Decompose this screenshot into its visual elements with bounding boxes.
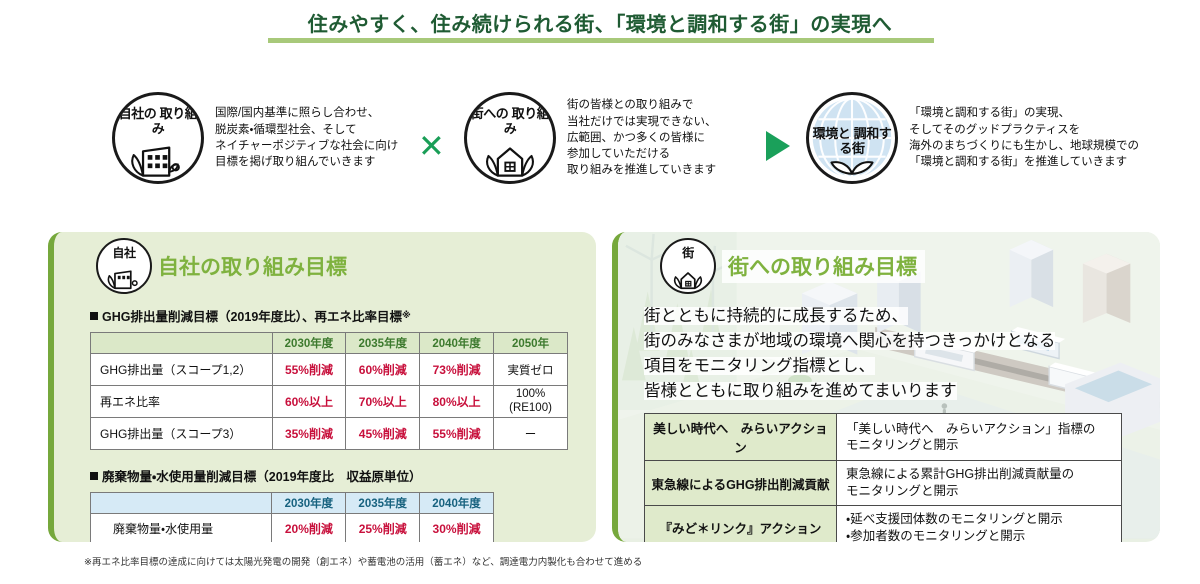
operator-arrow-icon (766, 131, 790, 161)
bullet-square-icon (90, 472, 98, 480)
badge-own-company: 自社 (96, 238, 152, 294)
table-row: 東急線によるGHG排出削減貢献 東急線による累計GHG排出削減貢献量の モニタリ… (645, 461, 1122, 506)
left-section2-label: 廃棄物量・水使用量削減目標（2019年度比 収益原単位） (90, 466, 596, 485)
table-cell: 25%削減 (346, 514, 420, 543)
badge-label: 街 (682, 247, 694, 260)
badge-town: 街 (660, 238, 716, 294)
table-row: 廃棄物量・水使用量 20%削減 25%削減 30%削減 (91, 514, 494, 543)
right-panel-body-text: 街とともに持続的に成長するため、 街のみなさまが地域の環境へ関心を持つきっかけと… (644, 304, 1160, 404)
houses-icon (662, 264, 714, 291)
table-row: GHG排出量（スコープ1,2） 55%削減 60%削減 73%削減 実質ゼロ (91, 354, 568, 386)
table-cell: 55%削減 (272, 354, 346, 386)
table-header-cell (91, 493, 272, 514)
table-row: GHG排出量（スコープ3） 35%削減 45%削減 55%削減 ー (91, 418, 568, 450)
footnote: ※再エネ比率目標の達成に向けては太陽光発電の開発（創エネ）や蓄電池の活用（蓄エネ… (84, 554, 642, 568)
flow-step-town-initiatives: 街への 取り組み 街の皆様との取り組みで 当社だけでは実現できない、 広範囲、か… (464, 92, 717, 184)
operator-multiply-icon: ✕ (418, 130, 445, 162)
table-cell: 100% (RE100) (494, 386, 568, 418)
left-section1-label-text: GHG排出量削減目標（2019年度比）、再エネ比率目標 (102, 310, 402, 324)
table-header-cell: 2030年度 (272, 333, 346, 354)
table-header-cell (91, 333, 273, 354)
flow-step-own-initiatives: 自社の 取り組み 国際/国内基準に照らし合わせ、 脱炭素・循環型社会、そして ネ… (112, 92, 398, 184)
page-title: 住みやすく、住み続けられる街、「環境と調和する街」の実現へ (0, 8, 1200, 37)
body-line: 街のみなさまが地域の環境へ関心を持つきっかけとなる (644, 329, 1160, 354)
table-cell: 70%以上 (346, 386, 420, 418)
badge-label: 環境と 調和する街 (809, 127, 895, 156)
table-cell: 60%削減 (346, 354, 420, 386)
row-detail: 東急線による累計GHG排出削減貢献量の モニタリングと開示 (837, 461, 1122, 506)
row-detail: 「美しい時代へ みらいアクション」指標の モニタリングと開示 (837, 414, 1122, 461)
panel-town-initiative-targets: 街 街への取り組み目標 街とともに持続的に成長するため、 街のみなさまが地域の環… (612, 232, 1160, 542)
table-header-cell: 2035年度 (346, 333, 420, 354)
row-label: 美しい時代へ みらいアクション (645, 414, 837, 461)
body-line-text: 項目をモニタリング指標とし、 (644, 357, 875, 375)
left-section1-label-mark: ※ (402, 310, 411, 320)
badge-town-initiatives: 街への 取り組み (464, 92, 556, 184)
table-cell: ー (494, 418, 568, 450)
infographic-page: 住みやすく、住み続けられる街、「環境と調和する街」の実現へ 自社の 取り組み 国… (0, 0, 1200, 584)
table-row: 再エネ比率 60%以上 70%以上 80%以上 100% (RE100) (91, 386, 568, 418)
right-panel-header: 街 街への取り組み目標 (660, 238, 1160, 294)
table-header-cell: 2035年度 (346, 493, 420, 514)
body-line-text: 街とともに持続的に成長するため、 (644, 307, 908, 325)
table-row: 『みど＊リンク』アクション ・延べ支援団体数のモニタリングと開示 ・参加者数のモ… (645, 505, 1122, 542)
table-cell: 55%削減 (420, 418, 494, 450)
building-icon (98, 264, 150, 291)
building-icon (115, 133, 201, 179)
badge-harmony-town: 環境と 調和する街 (806, 92, 898, 184)
row-label: 再エネ比率 (91, 386, 273, 418)
table-cell: 30%削減 (420, 514, 494, 543)
town-monitoring-table: 美しい時代へ みらいアクション 「美しい時代へ みらいアクション」指標の モニタ… (644, 413, 1122, 542)
right-panel-title: 街への取り組み目標 (722, 250, 925, 283)
row-detail: ・延べ支援団体数のモニタリングと開示 ・参加者数のモニタリングと開示 (837, 505, 1122, 542)
row-label: 廃棄物量・水使用量 (91, 514, 272, 543)
table-header-cell: 2050年 (494, 333, 568, 354)
waste-water-targets-table: 2030年度 2035年度 2040年度 廃棄物量・水使用量 20%削減 25%… (90, 492, 494, 542)
body-line-text: 街のみなさまが地域の環境へ関心を持つきっかけとなる (644, 332, 1055, 350)
body-line: 項目をモニタリング指標とし、 (644, 354, 1160, 379)
table-cell: 45%削減 (346, 418, 420, 450)
table-cell: 60%以上 (272, 386, 346, 418)
ghg-targets-table: 2030年度 2035年度 2040年度 2050年 GHG排出量（スコープ1,… (90, 332, 568, 450)
flow-step-description: 「環境と調和する街」の実現、 そしてそのグッドプラクティスを 海外のまちづくりに… (909, 105, 1139, 170)
table-header-row: 2030年度 2035年度 2040年度 (91, 493, 494, 514)
bullet-square-icon (90, 312, 98, 320)
table-cell: 実質ゼロ (494, 354, 568, 386)
left-panel-header: 自社 自社の取り組み目標 (96, 238, 596, 294)
houses-icon (467, 133, 553, 179)
badge-label: 自社の 取り組み (115, 107, 201, 136)
body-line: 皆様とともに取り組みを進めてまいります (644, 379, 1160, 404)
badge-own-initiatives: 自社の 取り組み (112, 92, 204, 184)
flow-step-description: 国際/国内基準に照らし合わせ、 脱炭素・循環型社会、そして ネイチャーポジティブ… (215, 105, 398, 170)
table-row: 美しい時代へ みらいアクション 「美しい時代へ みらいアクション」指標の モニタ… (645, 414, 1122, 461)
flow-step-description: 街の皆様との取り組みで 当社だけでは実現できない、 広範囲、かつ多くの皆様に 参… (567, 97, 717, 179)
flow-step-harmony-town: 環境と 調和する街 「環境と調和する街」の実現、 そしてそのグッドプラクティスを… (806, 92, 1139, 184)
badge-label: 街への 取り組み (467, 107, 553, 136)
row-label: GHG排出量（スコープ3） (91, 418, 273, 450)
title-underline-rule (268, 38, 934, 43)
table-cell: 20%削減 (272, 514, 346, 543)
table-cell: 80%以上 (420, 386, 494, 418)
concept-flow: 自社の 取り組み 国際/国内基準に照らし合わせ、 脱炭素・循環型社会、そして ネ… (0, 78, 1200, 213)
left-section2-label-text: 廃棄物量・水使用量削減目標（2019年度比 収益原単位） (102, 470, 422, 484)
panel-own-initiative-targets: 自社 自社の取り組み目標 GHG排出量削減目標（2019年度比）、再エネ比率目標… (48, 232, 596, 542)
row-label: 東急線によるGHG排出削減貢献 (645, 461, 837, 506)
table-header-cell: 2030年度 (272, 493, 346, 514)
body-line-text: 皆様とともに取り組みを進めてまいります (644, 382, 957, 400)
table-cell: 73%削減 (420, 354, 494, 386)
row-label: 『みど＊リンク』アクション (645, 505, 837, 542)
badge-label: 自社 (112, 247, 135, 260)
row-label: GHG排出量（スコープ1,2） (91, 354, 273, 386)
page-title-wrap: 住みやすく、住み続けられる街、「環境と調和する街」の実現へ (0, 8, 1200, 37)
table-header-cell: 2040年度 (420, 333, 494, 354)
left-section1-label: GHG排出量削減目標（2019年度比）、再エネ比率目標※ (90, 306, 596, 325)
table-cell: 35%削減 (272, 418, 346, 450)
left-panel-title: 自社の取り組み目標 (158, 251, 347, 281)
table-header-row: 2030年度 2035年度 2040年度 2050年 (91, 333, 568, 354)
body-line: 街とともに持続的に成長するため、 (644, 304, 1160, 329)
table-header-cell: 2040年度 (420, 493, 494, 514)
